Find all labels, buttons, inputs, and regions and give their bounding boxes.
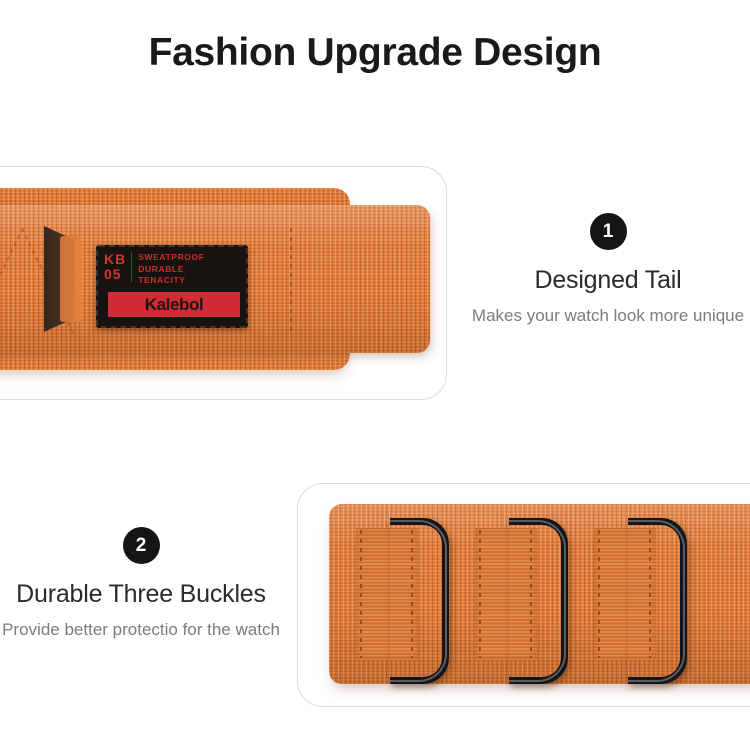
brand-label-patch: KB 05 SWEATPROOF DURABLE TENACITY Kalebo…	[96, 245, 248, 328]
brand-name: Kalebol	[145, 295, 204, 315]
label-claims: SWEATPROOF DURABLE TENACITY	[132, 252, 204, 287]
label-code-line1: KB	[104, 252, 126, 267]
label-code-line2: 05	[104, 267, 126, 282]
strap-keeper-fold	[60, 236, 82, 322]
callout-durable-three-buckles: 2 Durable Three Buckles Provide better p…	[0, 527, 282, 641]
buckle-loop-3-icon	[628, 518, 687, 684]
callout-designed-tail: 1 Designed Tail Makes your watch look mo…	[466, 213, 750, 327]
label-claim-sweatproof: SWEATPROOF	[138, 252, 204, 264]
brand-banner: Kalebol	[108, 292, 240, 317]
callout-subtitle-1: Makes your watch look more unique	[466, 304, 750, 327]
buckle-loop-1-icon	[390, 518, 449, 684]
tail-stitch-line	[290, 228, 292, 332]
label-product-code: KB 05	[104, 252, 132, 282]
x-reinforcement-stitch-icon	[0, 228, 48, 328]
page-title: Fashion Upgrade Design	[0, 31, 750, 75]
callout-subtitle-2: Provide better protectio for the watch	[0, 618, 282, 641]
label-claim-durable: DURABLE	[138, 264, 204, 276]
callout-number-badge-1: 1	[590, 213, 627, 250]
label-top-row: KB 05 SWEATPROOF DURABLE TENACITY	[104, 252, 240, 294]
callout-title-1: Designed Tail	[466, 266, 750, 295]
buckle-loop-2-icon	[509, 518, 568, 684]
label-claim-tenacity: TENACITY	[138, 275, 204, 287]
callout-number-badge-2: 2	[123, 527, 160, 564]
callout-title-2: Durable Three Buckles	[0, 580, 282, 609]
